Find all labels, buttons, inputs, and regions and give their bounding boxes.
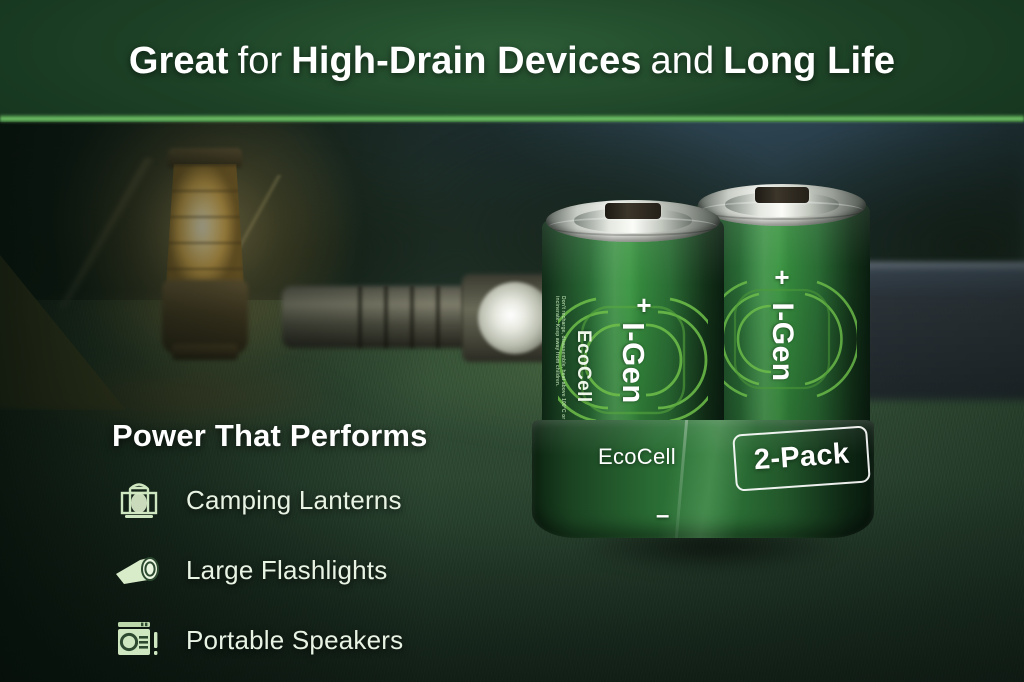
positive-terminal-mark-right: + bbox=[774, 264, 789, 290]
flashlight-icon bbox=[112, 546, 166, 594]
headline-part-5: Long Life bbox=[723, 40, 895, 83]
features-list: Camping Lanterns Large Flashlights bbox=[112, 476, 542, 664]
headline-part-3: High-Drain Devices bbox=[291, 40, 641, 83]
positive-terminal-mark-left: + bbox=[636, 292, 651, 318]
battery-fine-print: Don't recharge, disassemble, heat above … bbox=[554, 296, 566, 426]
headline-part-2: for bbox=[238, 40, 283, 83]
shrink-wrap-band: EcoCell – 2-Pack bbox=[532, 420, 874, 538]
pack-count-label: 2-Pack bbox=[753, 438, 850, 478]
battery-cap-left bbox=[546, 200, 720, 242]
brand-vertical-left: EcoCell bbox=[572, 330, 594, 403]
headline-banner: Great for High-Drain Devices and Long Li… bbox=[0, 0, 1024, 122]
feature-item-flashlights: Large Flashlights bbox=[112, 546, 542, 594]
battery-cap-ring-left bbox=[549, 217, 716, 236]
feature-item-lanterns: Camping Lanterns bbox=[112, 476, 542, 524]
feature-label-speakers: Portable Speakers bbox=[186, 625, 403, 656]
positive-terminal-nub-left bbox=[605, 203, 661, 220]
banner-glow-edge bbox=[0, 114, 1024, 123]
brand-label-on-wrap: EcoCell bbox=[598, 444, 676, 470]
features-title: Power That Performs bbox=[112, 418, 542, 454]
feature-label-lanterns: Camping Lanterns bbox=[186, 485, 402, 516]
product-ad-banner: Great for High-Drain Devices and Long Li… bbox=[0, 0, 1024, 682]
product-line-logo-right: I-Gen bbox=[765, 302, 799, 381]
feature-label-flashlights: Large Flashlights bbox=[186, 555, 387, 586]
headline-text: Great for High-Drain Devices and Long Li… bbox=[0, 0, 1024, 122]
headline-part-1: Great bbox=[129, 40, 229, 83]
headline-part-4: and bbox=[651, 40, 715, 83]
pack-count-badge: 2-Pack bbox=[732, 425, 871, 491]
camping-lantern-icon bbox=[112, 476, 166, 524]
features-block: Power That Performs Campi bbox=[112, 418, 542, 664]
positive-terminal-nub-right bbox=[755, 187, 809, 204]
product-line-logo-left: I-Gen bbox=[615, 322, 651, 404]
battery-cap-ring-right bbox=[701, 201, 862, 220]
negative-terminal-mark: – bbox=[656, 504, 669, 528]
portable-speaker-icon bbox=[112, 616, 166, 664]
feature-item-speakers: Portable Speakers bbox=[112, 616, 542, 664]
battery-two-pack: + I-Gen EcoCell bbox=[522, 178, 902, 578]
